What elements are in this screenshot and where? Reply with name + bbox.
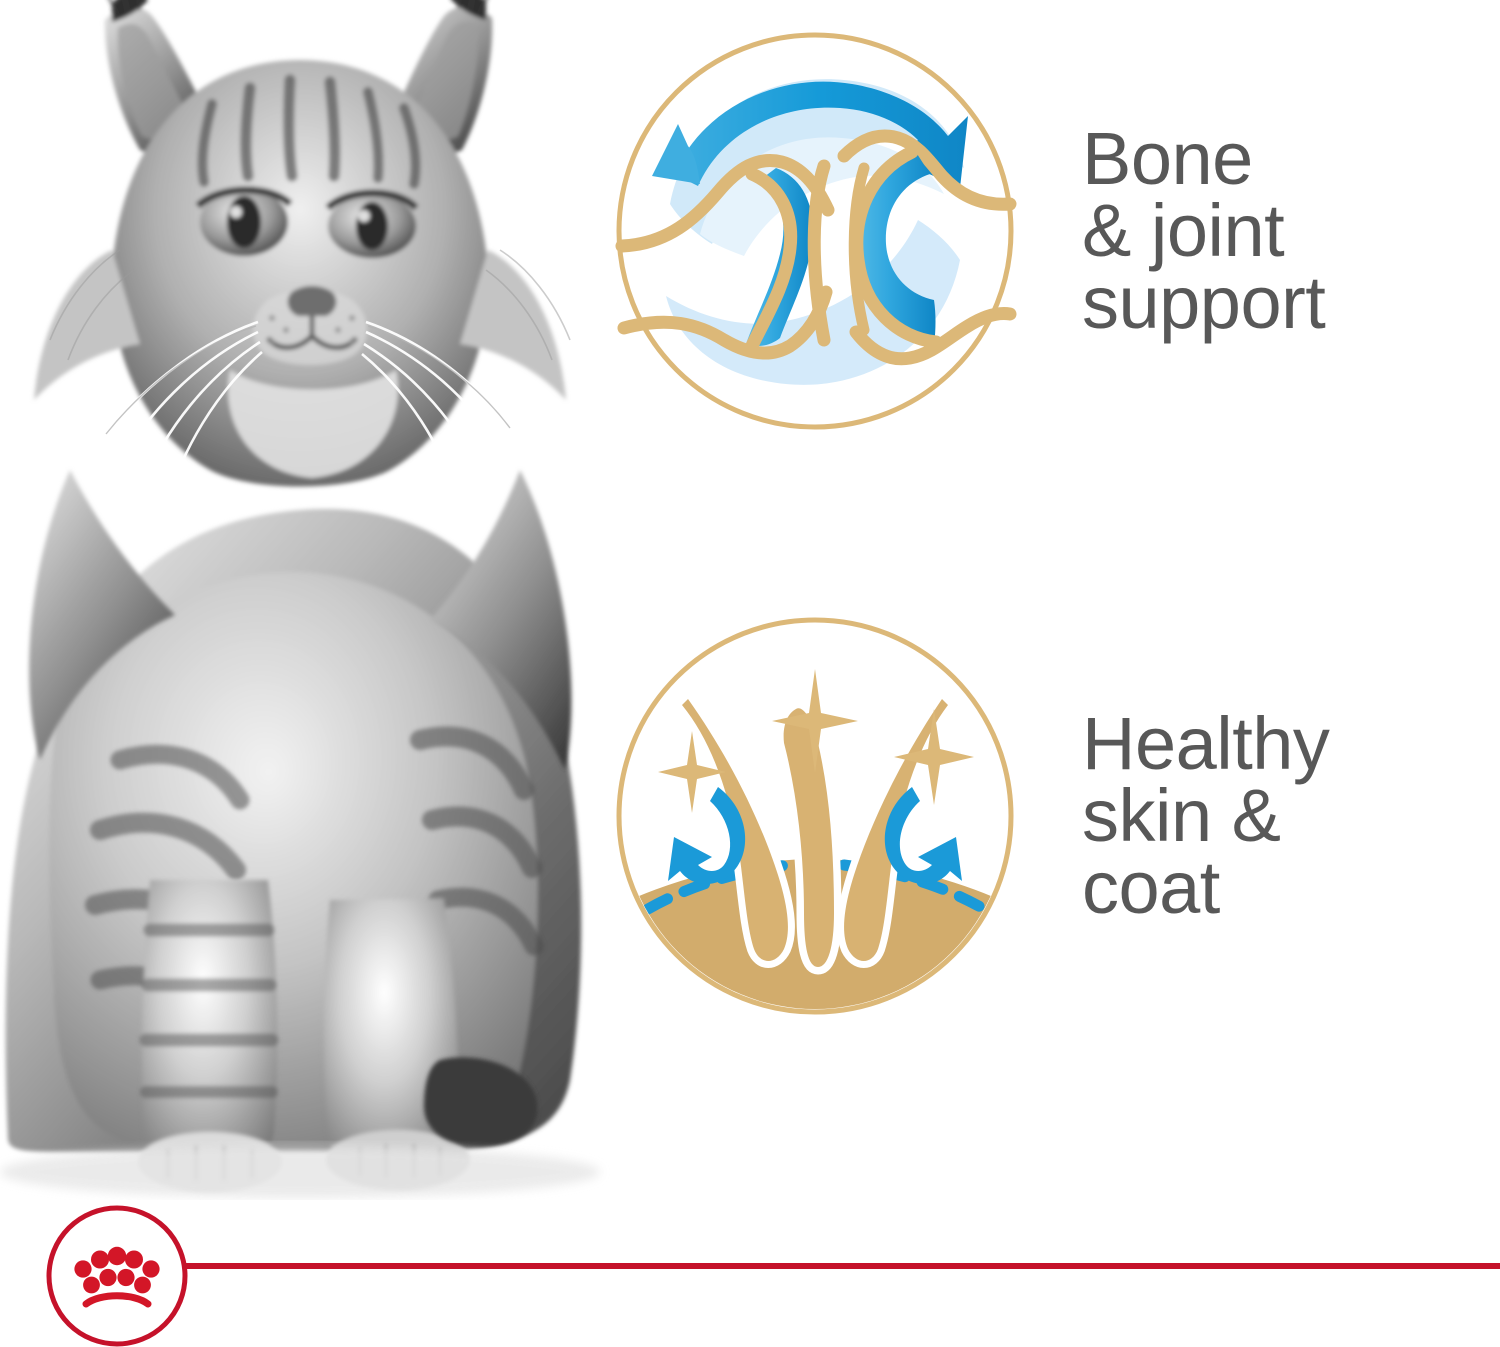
benefit-healthy-skin-coat: Healthy skin & coat — [612, 613, 1329, 1019]
brand-rule — [175, 1263, 1500, 1269]
cat-photo — [0, 0, 620, 1200]
benefit-label-bone-joint: Bone & joint support — [1082, 123, 1325, 338]
bone-joint-icon — [612, 28, 1018, 434]
benefit-label-healthy-skin-coat: Healthy skin & coat — [1082, 708, 1329, 923]
royal-canin-crown-logo — [42, 1201, 192, 1347]
product-feature-panel: Bone & joint support — [0, 0, 1500, 1347]
benefit-bone-joint: Bone & joint support — [612, 28, 1325, 434]
brand-footer — [0, 1196, 1500, 1347]
healthy-skin-coat-icon — [612, 613, 1018, 1019]
